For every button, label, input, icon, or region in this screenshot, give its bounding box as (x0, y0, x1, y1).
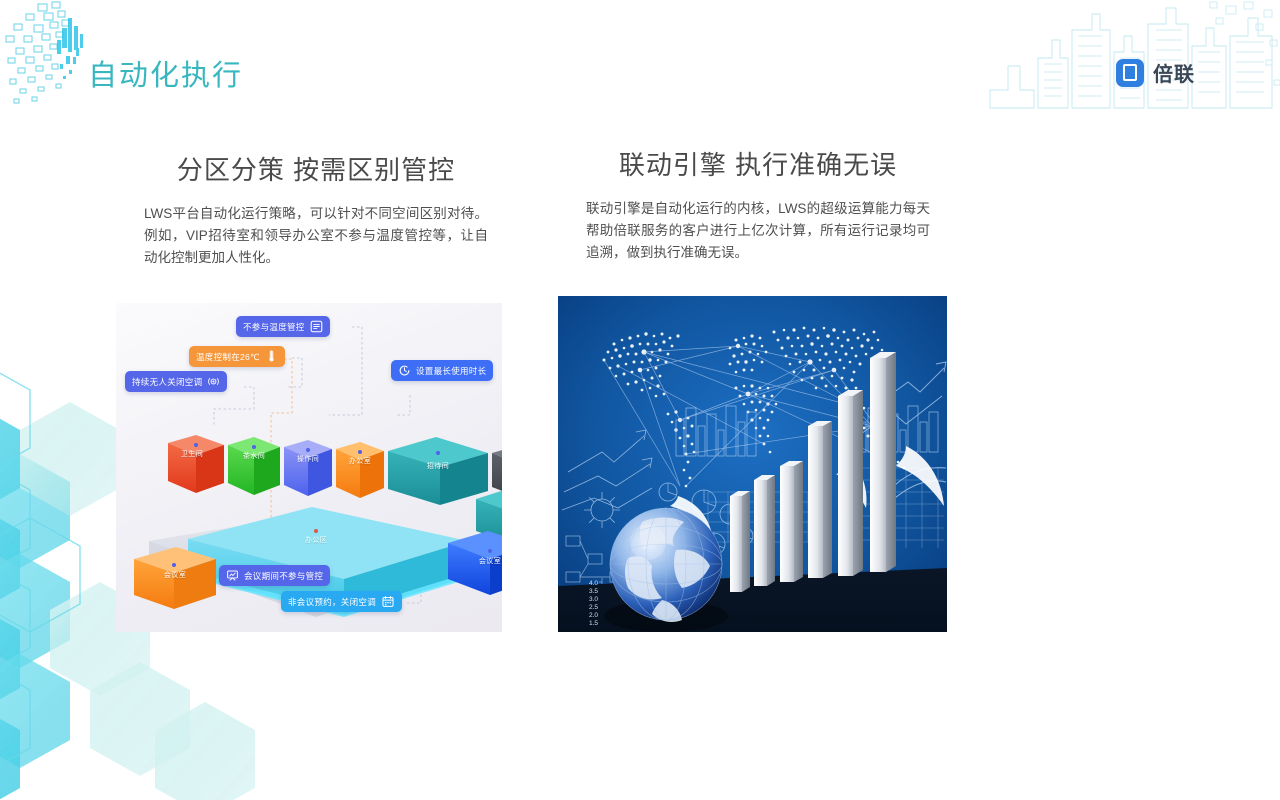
axis-tick-5: 1.5 (589, 620, 598, 627)
square-logo-icon (1116, 59, 1144, 87)
clock-icon (398, 364, 411, 377)
page-header: 自动化执行 倍联 (0, 0, 1280, 120)
right-heading: 联动引擎 执行准确无误 (558, 145, 958, 182)
floor-plan-diagram: 卫生间 茶水间 操作间 办公室 招待间 电梯间 餐 厅 会议室 办公区 会议室 … (116, 303, 502, 632)
axis-tick-2: 3.0 (589, 596, 598, 603)
presentation-icon (226, 569, 239, 582)
room-label-pantry: 茶水间 (240, 451, 268, 461)
brand-name: 倍联 (1153, 58, 1195, 87)
room-label-vip: 招待间 (424, 461, 452, 471)
column-right: 联动引擎 执行准确无误 联动引擎是自动化运行的内核，LWS的超级运算能力每天帮助… (558, 145, 958, 264)
badge-label: 温度控制在26℃ (196, 351, 260, 363)
right-body-text: 联动引擎是自动化运行的内核，LWS的超级运算能力每天帮助倍联服务的客户进行上亿次… (558, 198, 958, 264)
room-label-meeting-a: 会议室 (161, 570, 189, 580)
calendar-icon (381, 595, 395, 608)
room-label-restroom: 卫生间 (178, 449, 206, 459)
axis-tick-3: 2.5 (589, 604, 598, 611)
badge-label: 会议期间不参与管控 (244, 570, 323, 582)
badge-label: 持续无人关闭空调 (132, 376, 202, 388)
badge-close-ac-unoccupied[interactable]: 持续无人关闭空调 (125, 371, 227, 392)
room-elevator (492, 445, 502, 498)
badge-no-temp-control[interactable]: 不参与温度管控 (236, 316, 330, 337)
global-data-svg (558, 296, 947, 632)
badge-no-booking-close-ac[interactable]: 非会议预约，关闭空调 (281, 591, 402, 612)
badge-label: 设置最长使用时长 (416, 365, 486, 377)
column-left: 分区分策 按需区别管控 LWS平台自动化运行策略，可以针对不同空间区别对待。例如… (116, 150, 516, 269)
global-data-image: 4.0 3.5 3.0 2.5 2.0 1.5 (558, 296, 947, 632)
room-vip (388, 437, 488, 505)
badge-meeting-no-control[interactable]: 会议期间不参与管控 (219, 565, 330, 586)
badge-label: 不参与温度管控 (243, 321, 305, 333)
left-body-text: LWS平台自动化运行策略，可以针对不同空间区别对待。例如，VIP招待室和领导办公… (116, 203, 516, 269)
left-heading: 分区分策 按需区别管控 (116, 150, 516, 187)
page-title: 自动化执行 (88, 52, 243, 94)
room-label-office-area: 办公区 (302, 535, 330, 545)
axis-tick-1: 3.5 (589, 588, 598, 595)
motion-sensor-icon (207, 375, 220, 388)
document-icon (310, 320, 323, 333)
thermometer-icon (265, 350, 278, 363)
room-label-meeting-b: 会议室 (476, 556, 502, 566)
axis-tick-0: 4.0 (589, 580, 598, 587)
badge-max-usage-time[interactable]: 设置最长使用时长 (391, 360, 493, 381)
axis-tick-4: 2.0 (589, 612, 598, 619)
room-label-office: 办公室 (346, 456, 374, 466)
badge-label: 非会议预约，关闭空调 (288, 596, 376, 608)
brand-logo: 倍联 (1116, 58, 1195, 87)
badge-temp-at-26[interactable]: 温度控制在26℃ (189, 346, 285, 367)
room-label-ops: 操作间 (294, 454, 322, 464)
